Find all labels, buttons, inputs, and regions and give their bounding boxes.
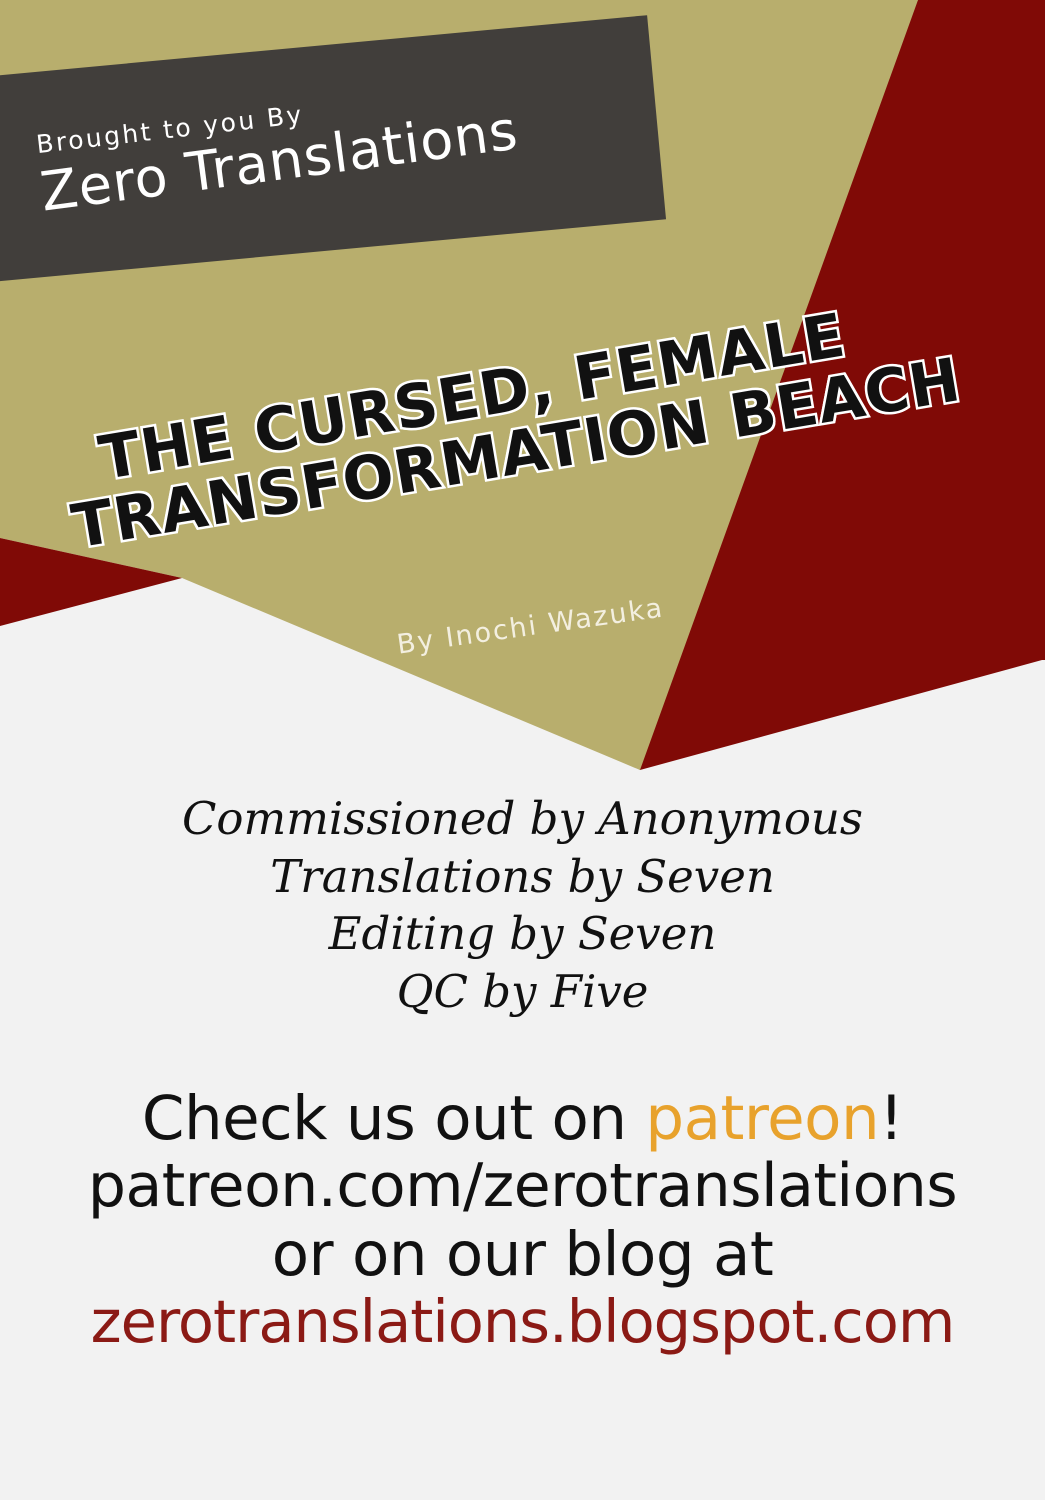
patreon-word: patreon bbox=[645, 1083, 879, 1154]
promo-blog-prefix: or on our blog at bbox=[0, 1221, 1045, 1289]
brand-plaque: Brought to you By Zero Translations bbox=[0, 15, 666, 282]
credit-line-translation: Translations by Seven bbox=[0, 848, 1045, 906]
credit-line-commission: Commissioned by Anonymous bbox=[0, 790, 1045, 848]
credit-line-editing: Editing by Seven bbox=[0, 905, 1045, 963]
credit-line-qc: QC by Five bbox=[0, 963, 1045, 1021]
patreon-url-link[interactable]: patreon.com/zerotranslations bbox=[0, 1153, 1045, 1220]
promo-check-us-out-line: Check us out on patreon! bbox=[0, 1085, 1045, 1153]
credits-list: Commissioned by Anonymous Translations b… bbox=[0, 790, 1045, 1020]
promo-exclamation: ! bbox=[879, 1083, 903, 1154]
work-title: THE CURSED, FEMALE TRANSFORMATION BEACH bbox=[95, 298, 905, 553]
blog-url-link[interactable]: zerotranslations.blogspot.com bbox=[0, 1289, 1045, 1355]
credits-page: Brought to you By Zero Translations THE … bbox=[0, 0, 1045, 1500]
promo-check-prefix: Check us out on bbox=[142, 1083, 646, 1154]
author-byline: By Inochi Wazuka bbox=[395, 593, 666, 661]
brand-plaque-text: Brought to you By Zero Translations bbox=[35, 78, 601, 223]
promo-block: Check us out on patreon! patreon.com/zer… bbox=[0, 1085, 1045, 1355]
